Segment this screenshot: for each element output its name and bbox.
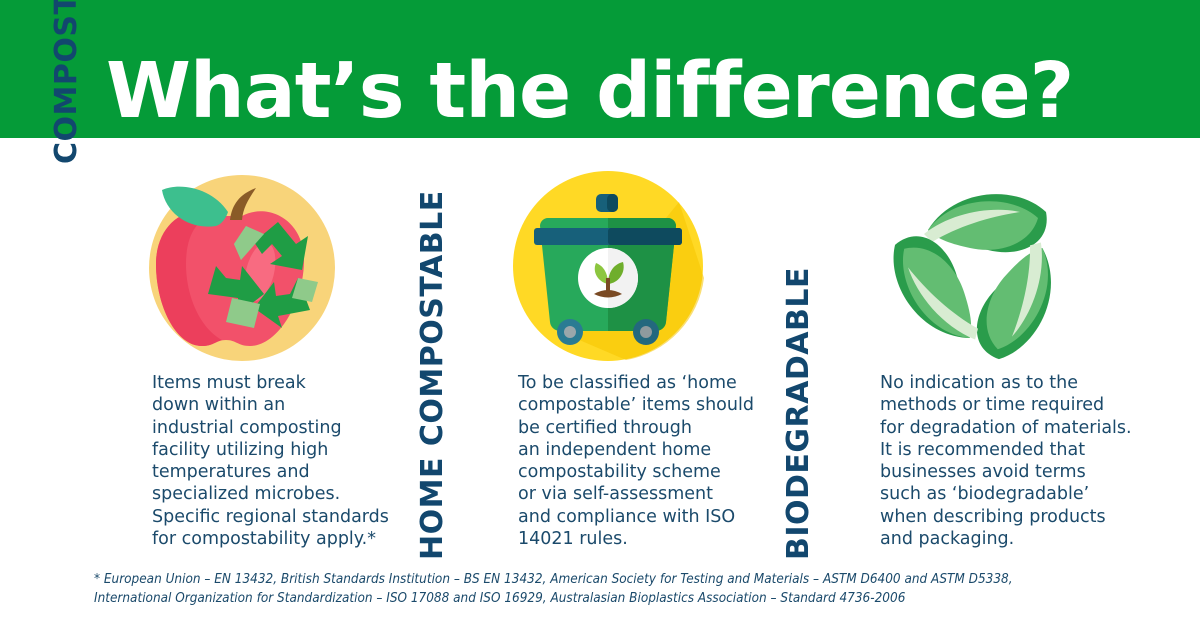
vertical-label-compostable: COMPOSTABLE — [48, 0, 86, 164]
body-text-home-compostable: To be classified as ‘home compostable’ i… — [518, 372, 790, 550]
body-text-compostable: Items must break down within an industri… — [152, 372, 420, 550]
infographic-page: What’s the difference? COMPOSTABLE — [0, 0, 1200, 630]
column-biodegradable: BIODEGRADABLE — [818, 160, 1158, 560]
three-leaves-recycle-icon — [880, 172, 1080, 372]
compost-bin-icon — [508, 166, 708, 366]
column-compostable: COMPOSTABLE — [84, 160, 424, 560]
page-title: What’s the difference? — [106, 49, 1166, 135]
footnote-standards: * European Union – EN 13432, British Sta… — [94, 570, 1080, 608]
column-home-compostable: HOME COMPOSTABLE — [452, 160, 792, 560]
vertical-label-home-compostable: HOME COMPOSTABLE — [414, 190, 452, 560]
apple-recycle-icon — [142, 168, 342, 368]
body-text-biodegradable: No indication as to the methods or time … — [880, 372, 1156, 550]
vertical-label-biodegradable: BIODEGRADABLE — [780, 267, 818, 560]
